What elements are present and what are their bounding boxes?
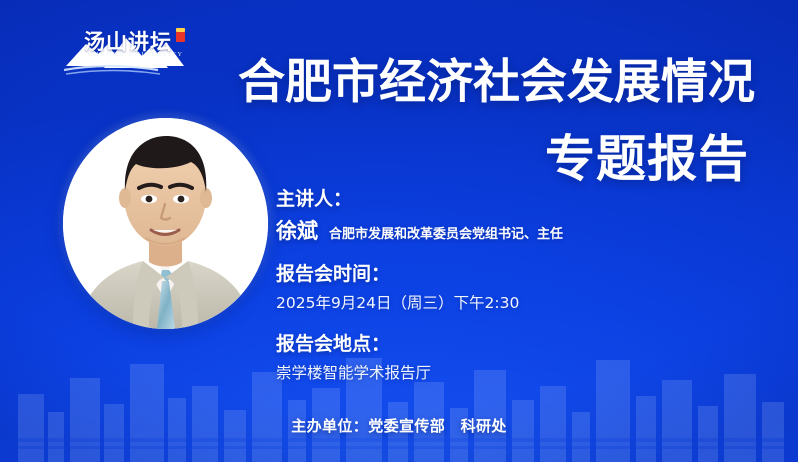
speaker-label: 主讲人： [276, 190, 696, 209]
time-value: 2025年9月24日（周三）下午2:30 [276, 296, 696, 312]
poster-canvas: 汤山讲坛 CHAOHU UNIVERSITY [0, 0, 798, 462]
page-title-line2: 专题报告 [545, 134, 749, 184]
speaker-name: 徐斌 [276, 221, 318, 242]
event-details: 主讲人： 徐斌 合肥市发展和改革委员会党组书记、主任 报告会时间： 2025年9… [276, 190, 696, 381]
page-title-line1: 合肥市经济社会发展情况 [238, 59, 755, 106]
organizer-line: 主办单位：党委宣传部 科研处 [0, 415, 798, 436]
venue-label: 报告会地点： [276, 335, 696, 354]
venue-value: 崇学楼智能学术报告厅 [276, 366, 696, 382]
avatar [63, 118, 268, 329]
time-label: 报告会时间： [276, 265, 696, 284]
speaker-title: 合肥市发展和改革委员会党组书记、主任 [329, 228, 563, 241]
logo-subtitle: CHAOHU UNIVERSITY [88, 51, 184, 58]
speaker-row: 徐斌 合肥市发展和改革委员会党组书记、主任 [276, 221, 696, 242]
